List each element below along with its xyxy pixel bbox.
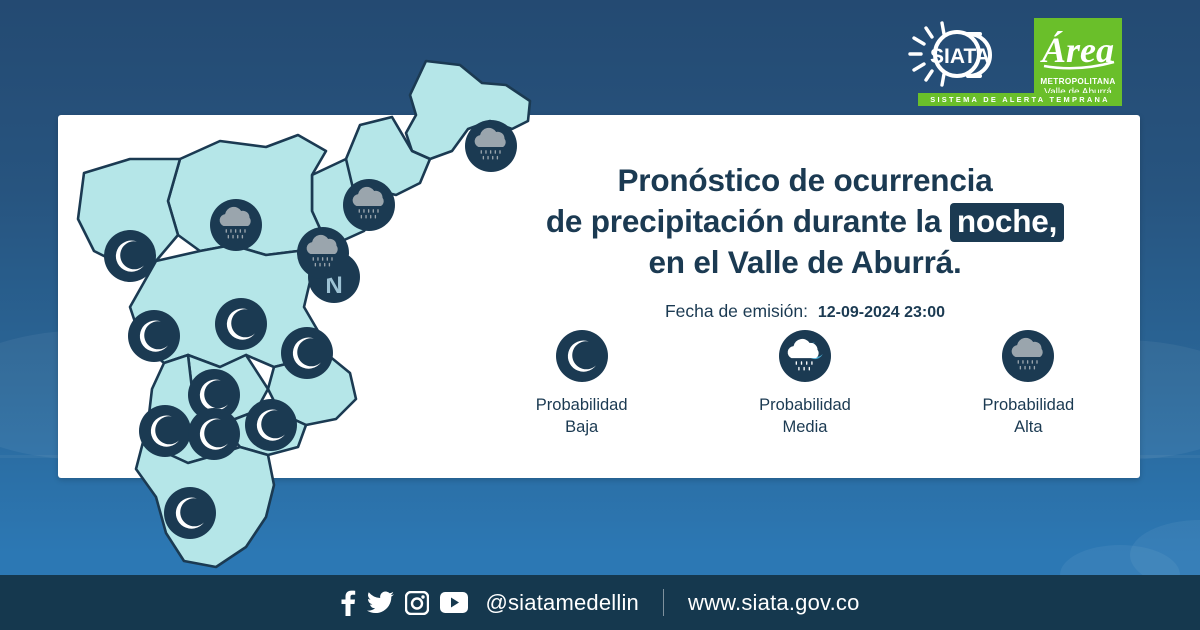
logo-group: SIATA Área METROPOLITANA Valle de Aburrá bbox=[904, 18, 1122, 102]
legend-item-alta: Probabilidad Alta bbox=[917, 330, 1140, 439]
map-marker-baja bbox=[139, 405, 191, 457]
map-marker-baja bbox=[245, 399, 297, 451]
siata-tagline-text: SISTEMA DE ALERTA TEMPRANA bbox=[930, 95, 1110, 104]
legend-item-baja: Probabilidad Baja bbox=[470, 330, 693, 439]
emission-date-label: Fecha de emisión: bbox=[665, 301, 808, 321]
map-marker-baja bbox=[215, 298, 267, 350]
instagram-icon[interactable] bbox=[405, 591, 429, 615]
legend-baja-line2: Baja bbox=[470, 417, 693, 439]
area-metropolitana-logo: Área METROPOLITANA Valle de Aburrá bbox=[1034, 18, 1122, 102]
legend-caption-baja: Probabilidad Baja bbox=[470, 395, 693, 439]
headline-block: Pronóstico de ocurrencia de precipitació… bbox=[470, 160, 1140, 322]
valle-de-aburra-map: N bbox=[60, 55, 530, 575]
probability-legend: Probabilidad Baja Probabilidad Media bbox=[470, 330, 1140, 439]
map-marker-baja bbox=[104, 230, 156, 282]
title-line-2-text: de precipitación durante la bbox=[546, 203, 941, 239]
siata-logo: SIATA bbox=[904, 18, 1026, 95]
title-line-1: Pronóstico de ocurrencia bbox=[470, 160, 1140, 201]
title-highlight-noche: noche, bbox=[950, 203, 1064, 242]
legend-caption-alta: Probabilidad Alta bbox=[917, 395, 1140, 439]
siata-logo-mark: SIATA bbox=[904, 18, 1026, 90]
legend-alta-line1: Probabilidad bbox=[917, 395, 1140, 417]
emission-date-value: 12-09-2024 23:00 bbox=[818, 304, 945, 321]
legend-alta-line2: Alta bbox=[917, 417, 1140, 439]
legend-item-media: Probabilidad Media bbox=[693, 330, 916, 439]
map-marker-baja bbox=[164, 487, 216, 539]
legend-media-line2: Media bbox=[693, 417, 916, 439]
map-marker-baja bbox=[188, 408, 240, 460]
website-url[interactable]: www.siata.gov.co bbox=[688, 590, 860, 616]
title-line-2: de precipitación durante la noche, bbox=[470, 201, 1140, 242]
cloud-rain-moon-icon bbox=[779, 330, 831, 382]
area-script-icon: Área bbox=[1034, 18, 1122, 76]
moon-icon bbox=[556, 330, 608, 382]
map-marker-baja bbox=[281, 327, 333, 379]
title-line-3: en el Valle de Aburrá. bbox=[470, 242, 1140, 283]
facebook-icon[interactable] bbox=[340, 590, 356, 616]
map-marker-alta bbox=[297, 227, 349, 279]
map-marker-alta bbox=[210, 199, 262, 251]
social-handle[interactable]: @siatamedellin bbox=[485, 590, 639, 616]
area-logo-box: Área METROPOLITANA Valle de Aburrá bbox=[1034, 18, 1122, 102]
map-marker-alta bbox=[343, 179, 395, 231]
cloud-rain-icon bbox=[1002, 330, 1054, 382]
legend-caption-media: Probabilidad Media bbox=[693, 395, 916, 439]
siata-logo-text: SIATA bbox=[930, 45, 990, 68]
siata-tagline-bar: SISTEMA DE ALERTA TEMPRANA bbox=[918, 93, 1122, 106]
area-line-metropolitana: METROPOLITANA bbox=[1034, 77, 1122, 86]
legend-media-line1: Probabilidad bbox=[693, 395, 916, 417]
emission-date-row: Fecha de emisión: 12-09-2024 23:00 bbox=[470, 301, 1140, 322]
footer-bar: @siatamedellin www.siata.gov.co bbox=[0, 575, 1200, 630]
legend-baja-line1: Probabilidad bbox=[470, 395, 693, 417]
map-marker-baja bbox=[128, 310, 180, 362]
youtube-icon[interactable] bbox=[440, 592, 468, 613]
twitter-icon[interactable] bbox=[367, 591, 394, 615]
social-icon-group bbox=[340, 590, 468, 616]
footer-divider bbox=[663, 589, 664, 616]
